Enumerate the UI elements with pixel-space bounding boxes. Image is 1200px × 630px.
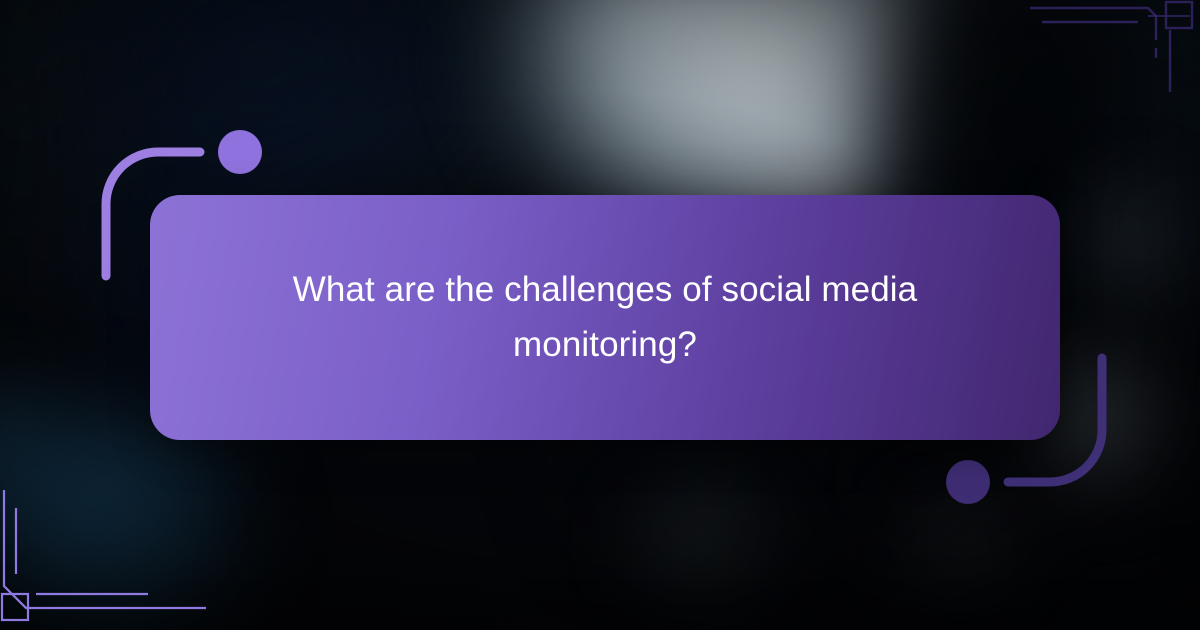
question-title: What are the challenges of social media … xyxy=(255,263,955,372)
question-card: What are the challenges of social media … xyxy=(150,195,1060,440)
social-card-canvas: What are the challenges of social media … xyxy=(0,0,1200,630)
